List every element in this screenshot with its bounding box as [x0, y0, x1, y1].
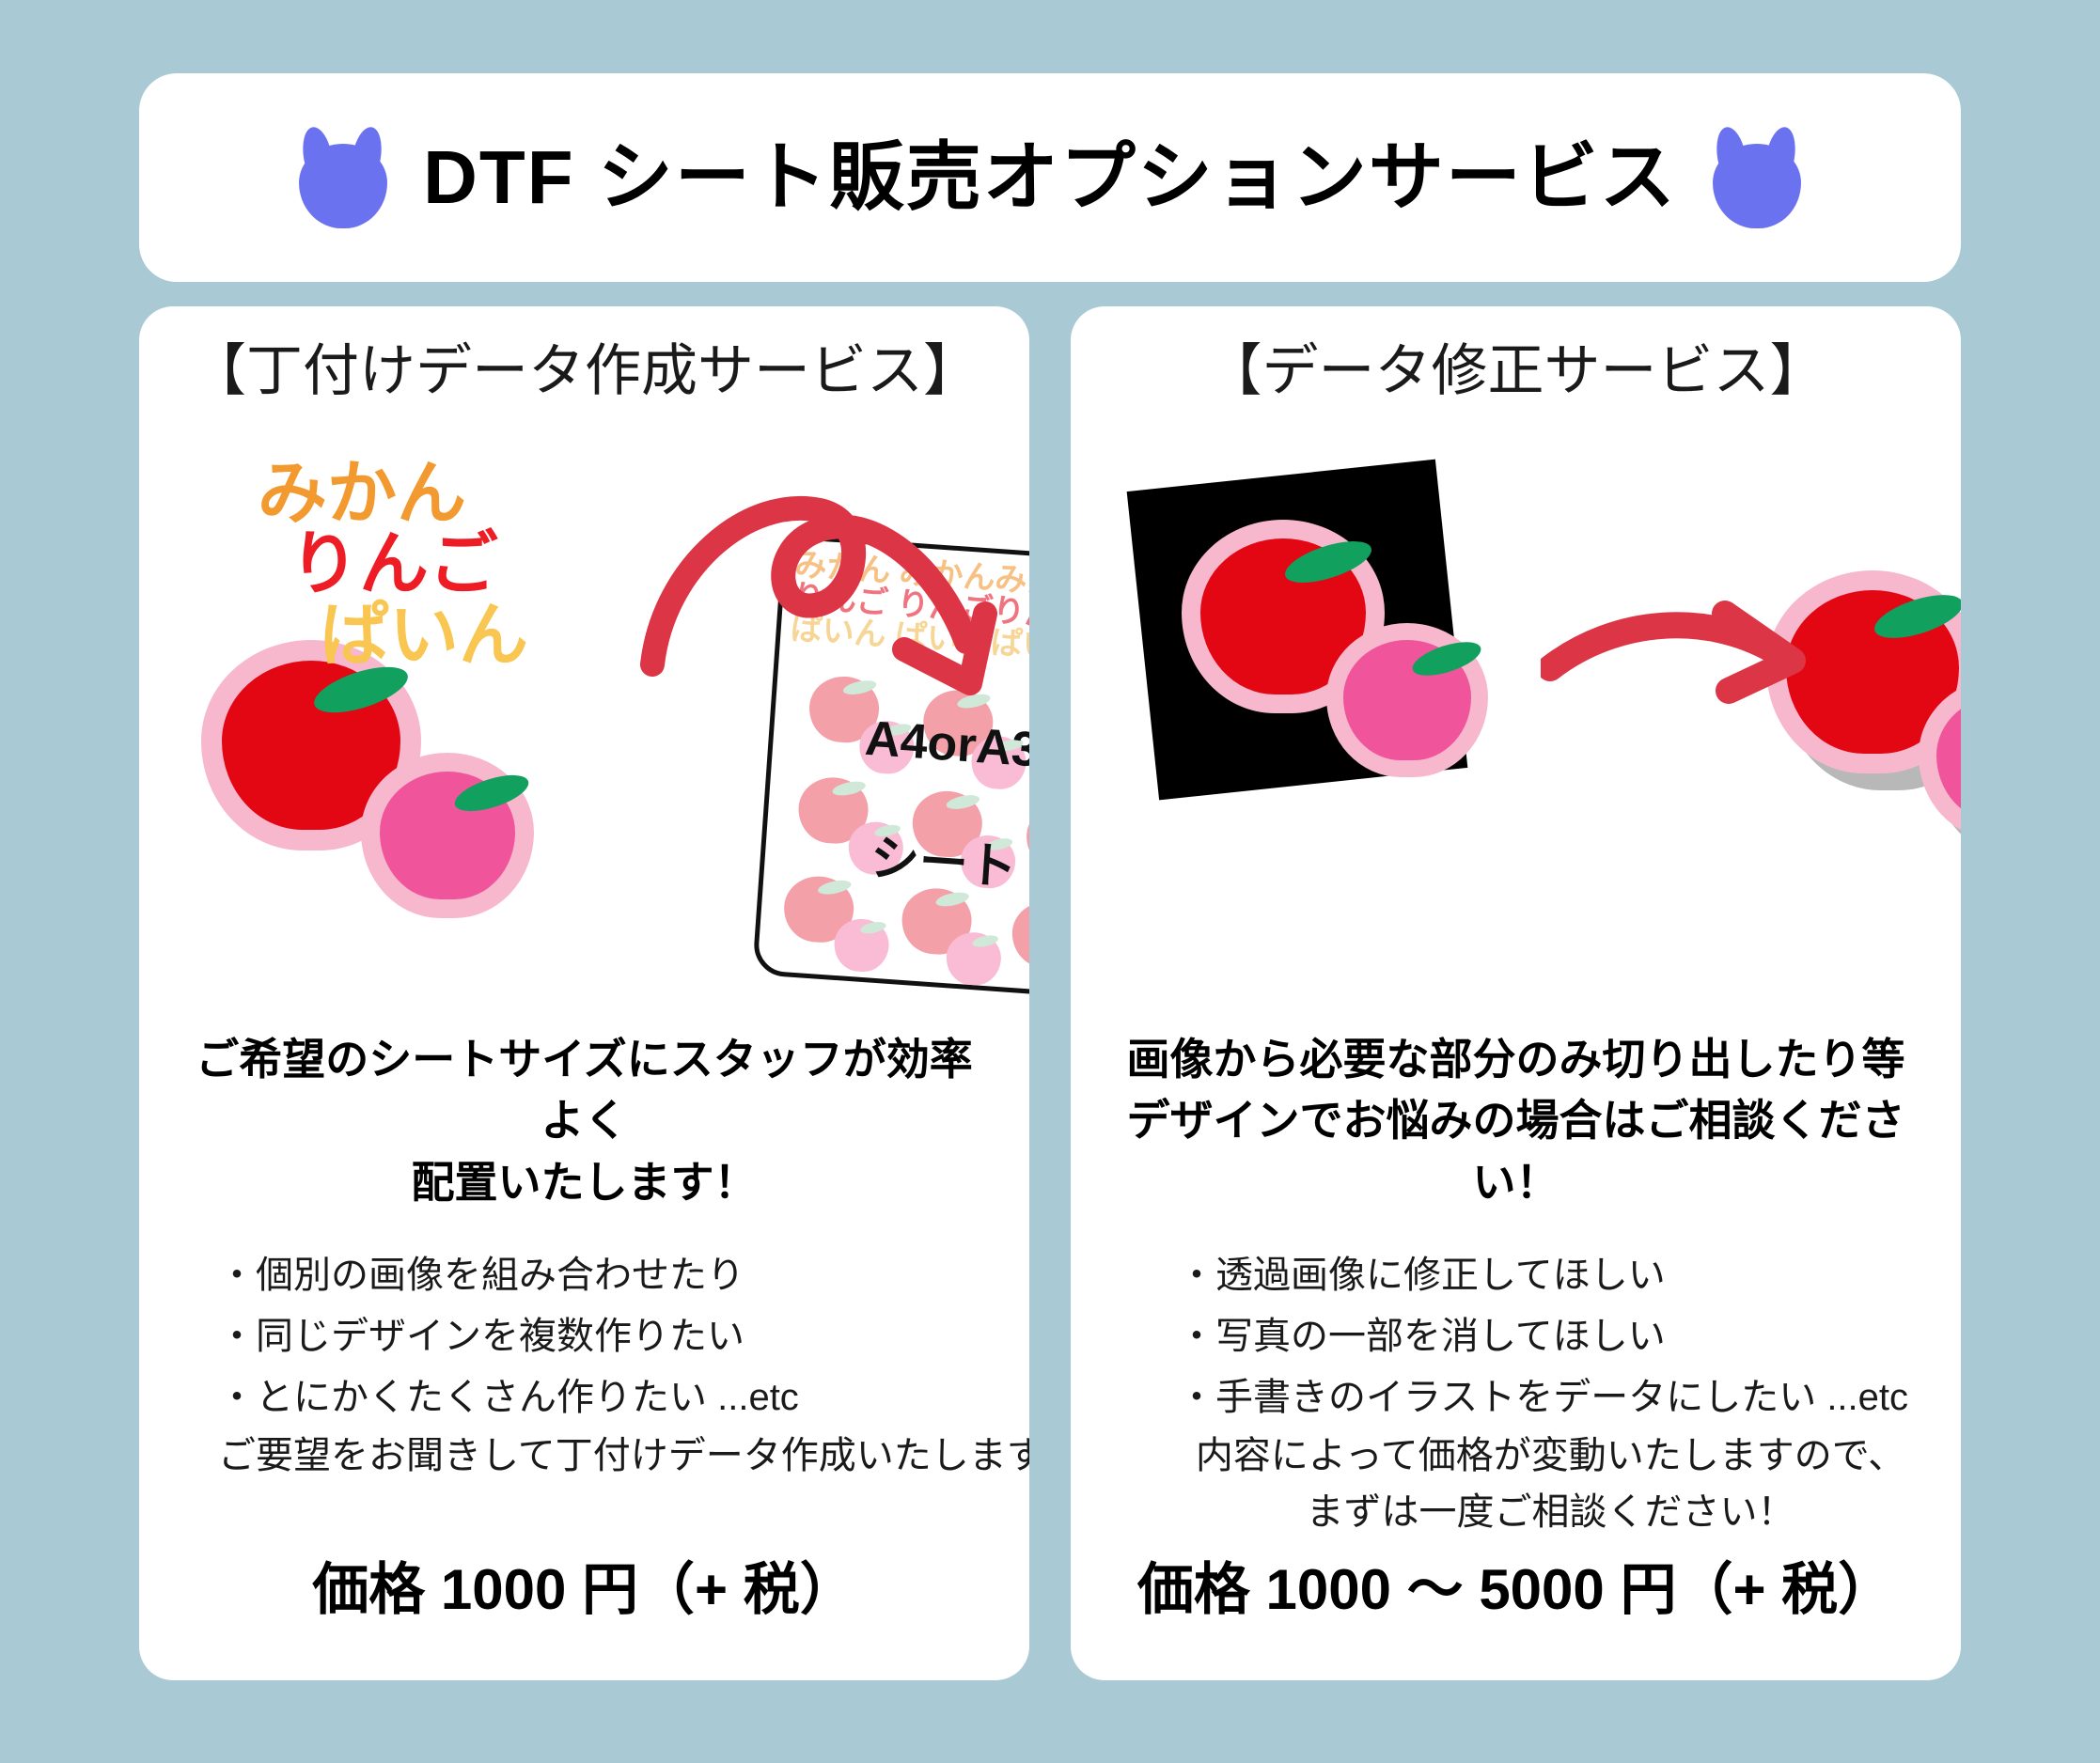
- fruit-word-stack: みかん りんご ぱいん: [258, 458, 528, 670]
- card-title-layout: 【丁付けデータ作成サービス】: [177, 338, 992, 403]
- bear-body: [1713, 144, 1801, 228]
- bear-mascot-icon-left: [288, 127, 399, 228]
- sheet-fruit-icon: [945, 930, 1003, 987]
- sheet-fruit-icon: [833, 917, 891, 974]
- headline-line-2: 配置いたします！: [177, 1152, 992, 1213]
- illustration-retouch-service: [1108, 403, 1923, 1023]
- header-banner: DTF シート販売オプションサービス: [139, 73, 1961, 282]
- headline-line-1: 画像から必要な部分のみ切り出したり等: [1108, 1029, 1923, 1090]
- page-title: DTF シート販売オプションサービス: [423, 140, 1677, 215]
- price-label-layout: 価格 1000 円（+ 税）: [139, 1544, 1029, 1626]
- feature-list-layout: ・個別の画像を組み合わせたり ・同じデザインを複数作りたい ・とにかくたくさん作…: [177, 1245, 992, 1484]
- closing-note: ご要望をお聞きして丁付けデータ作成いたします。: [218, 1428, 992, 1484]
- bear-mascot-icon-right: [1701, 127, 1812, 228]
- word-pain: ぱいん: [258, 600, 528, 670]
- illustration-layout-service: みかん りんご ぱいん みかん みかんみかん りんご りんごりんご ぱい: [177, 403, 992, 1023]
- list-item: ・透過画像に修正してほしい: [1178, 1245, 1923, 1306]
- card-headline-layout: ご希望のシートサイズにスタッフが効率よく 配置いたします！: [177, 1029, 992, 1213]
- word-mikan: みかん: [258, 458, 528, 528]
- right-arrow-icon: [1541, 563, 1823, 732]
- apple-pink-icon: [361, 753, 534, 918]
- leaf-icon: [1280, 533, 1376, 591]
- leaf-icon: [1409, 635, 1485, 682]
- card-title-retouch: 【データ修正サービス】: [1108, 338, 1923, 403]
- leaf-icon: [450, 768, 532, 819]
- headline-line-2: デザインでお悩みの場合はご相談ください！: [1108, 1090, 1923, 1213]
- list-item: ・手書きのイラストをデータにしたい ...etc: [1178, 1367, 1923, 1428]
- list-item: ・同じデザインを複数作りたい: [218, 1306, 992, 1367]
- list-item: ・写真の一部を消してほしい: [1178, 1306, 1923, 1367]
- closing-note-line-1: 内容によって価格が変動いたしますので、: [1178, 1428, 1923, 1484]
- bear-body: [299, 144, 387, 228]
- feature-list-retouch: ・透過画像に修正してほしい ・写真の一部を消してほしい ・手書きのイラストをデー…: [1108, 1245, 1923, 1540]
- word-ringo: りんご: [258, 528, 528, 599]
- leaf-icon: [1870, 586, 1961, 647]
- sheet-repeated-words: みかん みかんみかん りんご りんごりんご ぱいん ぱいんぱいん: [790, 549, 1029, 673]
- headline-line-1: ご希望のシートサイズにスタッフが効率よく: [177, 1029, 992, 1152]
- apple-pink-on-black-icon: [1326, 623, 1488, 777]
- sheet-fruit-icon: [1010, 899, 1029, 970]
- list-item: ・個別の画像を組み合わせたり: [218, 1245, 992, 1306]
- sheet-preview: みかん みかんみかん りんご りんごりんご ぱいん ぱいんぱいん: [752, 534, 1029, 1000]
- service-cards-container: 【丁付けデータ作成サービス】 みかん りんご ぱいん みかん みかん: [139, 306, 1961, 1680]
- list-item: ・とにかくたくさん作りたい ...etc: [218, 1367, 992, 1428]
- service-card-retouch: 【データ修正サービス】 画像から必要な部分のみ切り出したり等 デザインでお: [1071, 306, 1961, 1680]
- card-headline-retouch: 画像から必要な部分のみ切り出したり等 デザインでお悩みの場合はご相談ください！: [1108, 1029, 1923, 1213]
- closing-note-line-2: まずは一度ご相談ください！: [1178, 1484, 1923, 1540]
- price-label-retouch: 価格 1000 〜 5000 円（+ 税）: [1071, 1544, 1961, 1626]
- service-card-layout: 【丁付けデータ作成サービス】 みかん りんご ぱいん みかん みかん: [139, 306, 1029, 1680]
